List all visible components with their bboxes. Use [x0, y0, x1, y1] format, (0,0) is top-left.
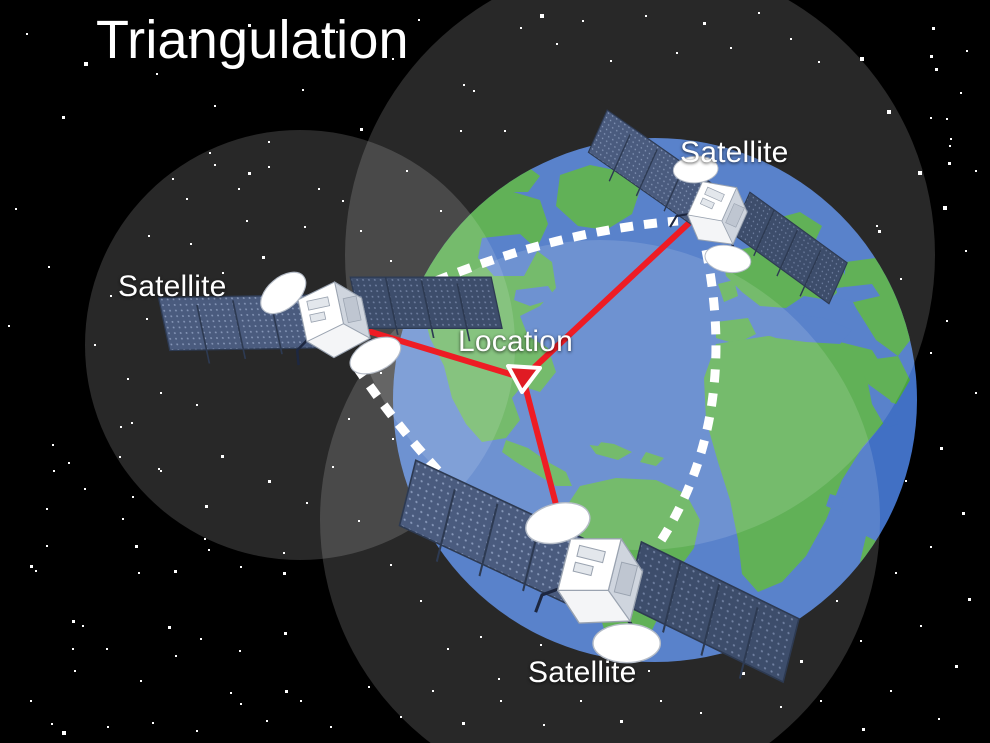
triangulation-illustration: Triangulation Satellite Satellite Satell…	[0, 0, 990, 743]
scene-canvas	[0, 0, 990, 743]
